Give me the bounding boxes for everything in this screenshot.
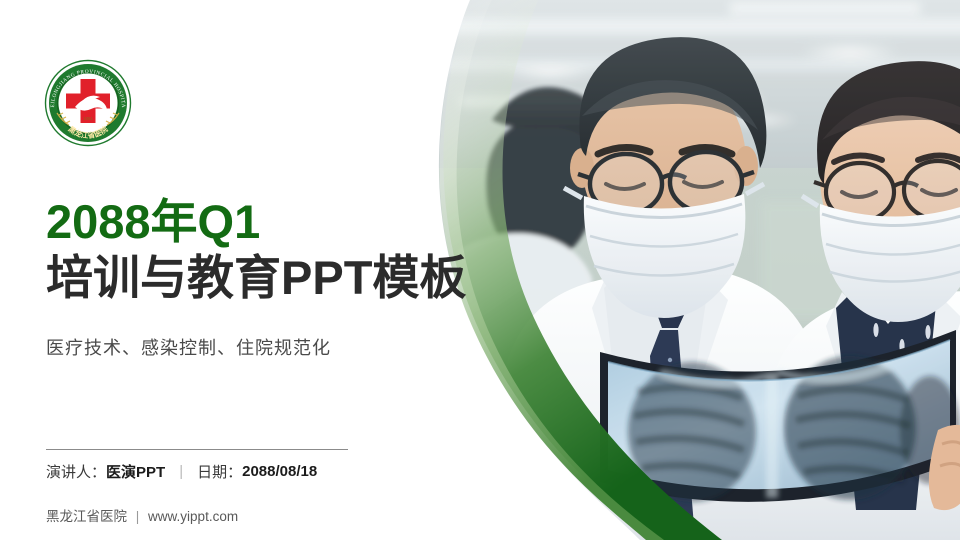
hero-photo: [430, 0, 960, 540]
logo-year: 1951: [83, 116, 93, 121]
footer-separator: |: [136, 509, 140, 524]
footer-org: 黑龙江省医院: [46, 509, 127, 524]
title-line-2: 培训与教育PPT模板: [46, 251, 466, 306]
presenter-meta: 演讲人： 医演PPT | 日期： 2088/08/18: [46, 461, 317, 482]
footer-site: www.yippt.com: [148, 509, 238, 524]
divider-line: [46, 449, 348, 450]
subtitle: 医疗技术、感染控制、住院规范化: [46, 334, 331, 360]
page-title: 2088年Q1 培训与教育PPT模板: [46, 196, 466, 305]
date-label: 日期：: [197, 461, 242, 482]
speaker-label: 演讲人：: [46, 461, 106, 482]
date-value: 2088/08/18: [242, 463, 317, 480]
left-content-panel: HEILONGJIANG PROVINCIAL HOSPITAL 黑龙江省医院: [0, 0, 470, 540]
footer-line: 黑龙江省医院 | www.yippt.com: [46, 505, 238, 525]
meta-separator: |: [179, 463, 183, 480]
hospital-logo: HEILONGJIANG PROVINCIAL HOSPITAL 黑龙江省医院: [42, 57, 134, 149]
title-line-1: 2088年Q1: [46, 196, 466, 249]
presentation-slide: HEILONGJIANG PROVINCIAL HOSPITAL 黑龙江省医院: [0, 0, 960, 540]
hospital-logo-emblem: HEILONGJIANG PROVINCIAL HOSPITAL 黑龙江省医院: [42, 57, 134, 149]
speaker-name: 医演PPT: [106, 461, 165, 482]
doctors-xray-illustration: [430, 0, 960, 540]
